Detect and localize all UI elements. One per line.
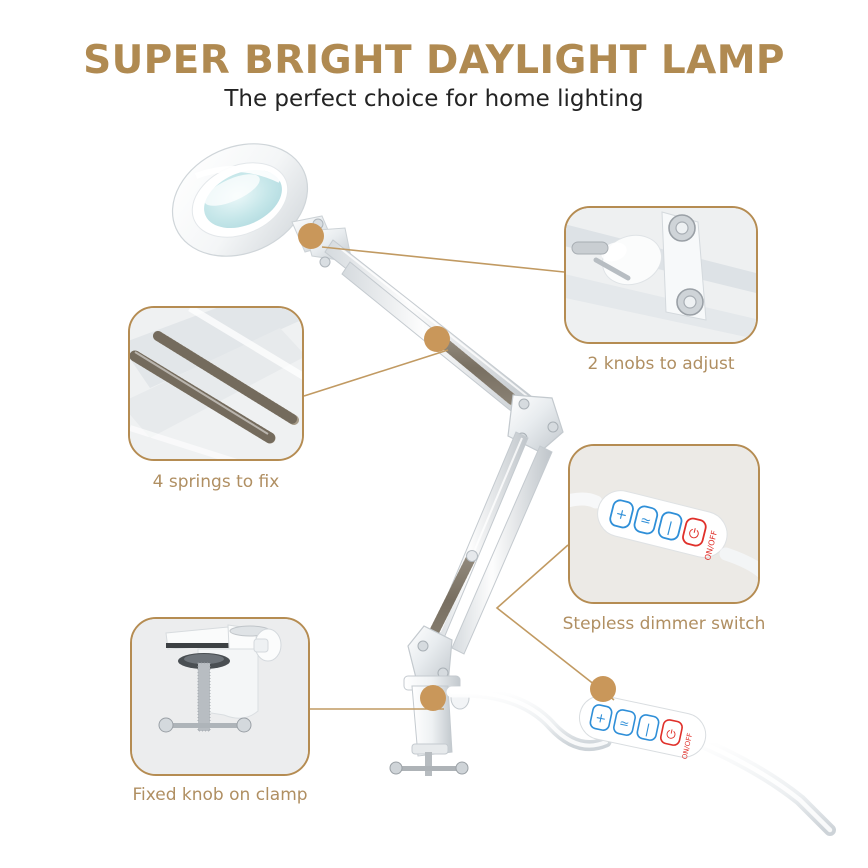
anchor-dot-dimmer [590, 676, 616, 702]
spring-closeup-photo [130, 308, 304, 461]
ring-lamp-head [154, 123, 325, 277]
anchor-dot-springs [424, 326, 450, 352]
callout-springs: 4 springs to fix [128, 306, 304, 496]
inline-dimmer-switch[interactable]: + ≃ | ⏻ ON/OFF [575, 692, 710, 763]
dimmer-switch-closeup-photo: + ≃ | ⏻ ON/OFF [570, 446, 760, 604]
callout-clamp-photo [130, 617, 310, 776]
callout-springs-label: 4 springs to fix [128, 472, 304, 492]
callout-knobs-label: 2 knobs to adjust [564, 354, 758, 374]
callout-knobs: 2 knobs to adjust [564, 206, 758, 378]
callout-dimmer: + ≃ | ⏻ ON/OFF Stepless dimmer switch [568, 444, 760, 640]
knob-closeup-photo [566, 208, 758, 344]
callout-clamp-label: Fixed knob on clamp [124, 785, 316, 805]
anchor-dot-clamp [420, 685, 446, 711]
callout-knobs-photo [564, 206, 758, 344]
clamp-knob-closeup-photo [132, 619, 310, 776]
product-infographic-page: SUPER BRIGHT DAYLIGHT LAMP The perfect c… [0, 0, 868, 868]
callout-clamp: Fixed knob on clamp [130, 617, 310, 809]
callout-dimmer-label: Stepless dimmer switch [556, 614, 772, 634]
callout-dimmer-photo: + ≃ | ⏻ ON/OFF [568, 444, 760, 604]
callout-springs-photo [128, 306, 304, 461]
anchor-dot-knobs [298, 223, 324, 249]
lower-arm [432, 432, 552, 654]
